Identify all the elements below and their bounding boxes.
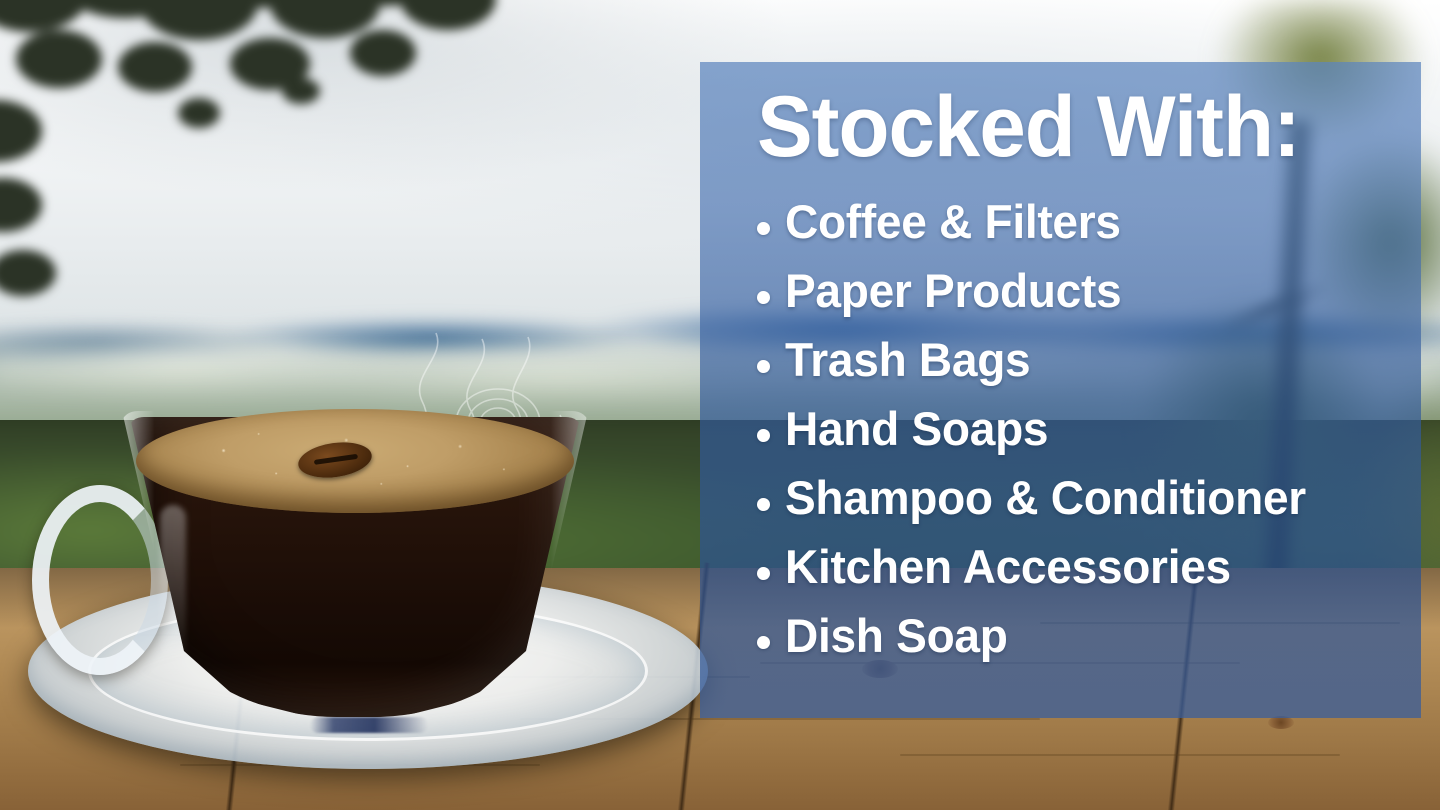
list-item: Coffee & Filters [757, 198, 1407, 267]
bullet-icon [757, 553, 785, 580]
list-item-label: Paper Products [785, 267, 1121, 314]
bullet-icon [757, 277, 785, 304]
wood-grain [900, 754, 1340, 756]
bullet-icon [757, 415, 785, 442]
list-item-label: Shampoo & Conditioner [785, 474, 1306, 521]
list-item: Kitchen Accessories [757, 543, 1407, 612]
stocked-with-panel: Stocked With: Coffee & Filters Paper Pro… [700, 62, 1421, 718]
bullet-icon [757, 622, 785, 649]
stocked-items-list: Coffee & Filters Paper Products Trash Ba… [757, 198, 1407, 681]
bullet-icon [757, 208, 785, 235]
panel-title: Stocked With: [757, 84, 1388, 170]
coffee-cup-group [10, 395, 710, 795]
cup-highlight [160, 505, 186, 675]
leaf-canopy-icon [0, 0, 570, 310]
list-item-label: Hand Soaps [785, 405, 1048, 452]
list-item-label: Trash Bags [785, 336, 1030, 383]
list-item-label: Coffee & Filters [785, 198, 1121, 245]
list-item: Paper Products [757, 267, 1407, 336]
list-item: Dish Soap [757, 612, 1407, 681]
list-item: Hand Soaps [757, 405, 1407, 474]
list-item-label: Kitchen Accessories [785, 543, 1231, 590]
list-item: Shampoo & Conditioner [757, 474, 1407, 543]
bullet-icon [757, 484, 785, 511]
slide-canvas: Stocked With: Coffee & Filters Paper Pro… [0, 0, 1440, 810]
bullet-icon [757, 346, 785, 373]
list-item-label: Dish Soap [785, 612, 1008, 659]
list-item: Trash Bags [757, 336, 1407, 405]
